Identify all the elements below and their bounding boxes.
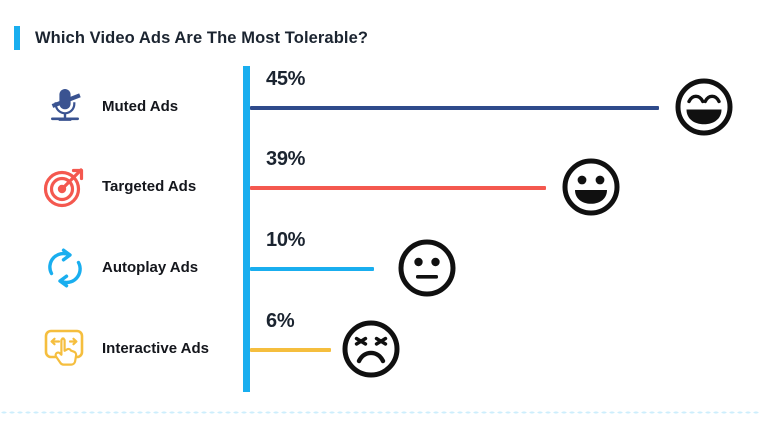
row-label-autoplay-ads: Autoplay Ads	[102, 259, 198, 276]
muted-microphone-icon	[38, 82, 92, 132]
row-value-autoplay-ads: 10%	[266, 229, 305, 252]
smiling-face-icon	[560, 156, 622, 218]
footer-divider	[0, 411, 759, 414]
bar-interactive-ads	[250, 348, 331, 352]
grinning-laughing-face-icon	[673, 76, 735, 138]
chart-row-muted-ads: Muted Ads 45%	[0, 62, 759, 142]
title-text: Which Video Ads Are The Most Tolerable?	[35, 29, 368, 48]
neutral-face-icon	[396, 237, 458, 299]
bar-muted-ads	[250, 106, 659, 110]
row-value-interactive-ads: 6%	[266, 310, 294, 333]
autoplay-loop-icon	[38, 243, 92, 293]
chart-row-interactive-ads: Interactive Ads 6%	[0, 304, 759, 384]
row-value-targeted-ads: 39%	[266, 148, 305, 171]
chart-row-autoplay-ads: Autoplay Ads 10%	[0, 223, 759, 303]
row-label-targeted-ads: Targeted Ads	[102, 178, 196, 195]
row-value-muted-ads: 45%	[266, 68, 305, 91]
row-label-interactive-ads: Interactive Ads	[102, 340, 209, 357]
chart-row-targeted-ads: Targeted Ads 39%	[0, 142, 759, 222]
title-accent-bar	[14, 26, 20, 50]
confounded-frowning-face-icon	[340, 318, 402, 380]
bar-autoplay-ads	[250, 267, 374, 271]
bar-chart: Muted Ads 45% Targeted Ads	[0, 62, 759, 392]
page-title: Which Video Ads Are The Most Tolerable?	[14, 26, 368, 50]
bar-targeted-ads	[250, 186, 546, 190]
interactive-swipe-hand-icon	[38, 324, 92, 374]
target-bullseye-icon	[38, 162, 92, 212]
row-label-muted-ads: Muted Ads	[102, 98, 178, 115]
